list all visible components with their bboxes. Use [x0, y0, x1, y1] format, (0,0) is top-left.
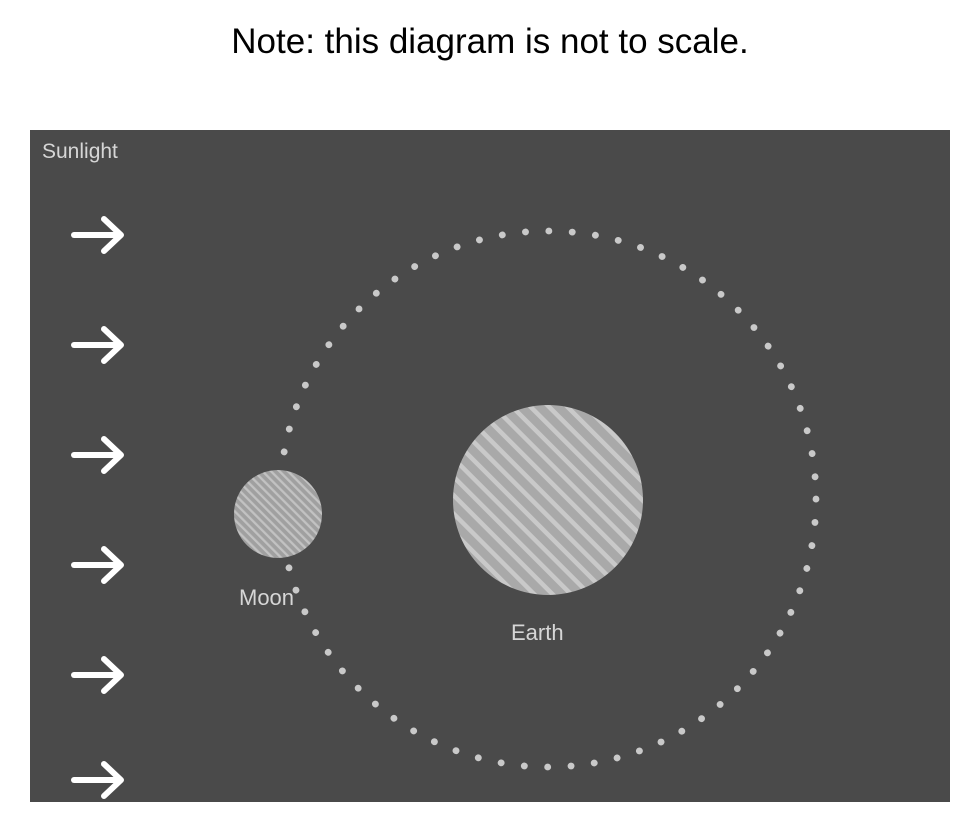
diagram-graphics [30, 130, 950, 802]
earth-label: Earth [511, 620, 564, 646]
diagram-canvas: Note: this diagram is not to scale. [0, 0, 980, 840]
earth-circle [453, 405, 643, 595]
page-title: Note: this diagram is not to scale. [0, 22, 980, 62]
arrow-right-icon [74, 329, 121, 361]
arrow-right-icon [74, 439, 121, 471]
arrow-right-icon [74, 549, 121, 581]
diagram-panel: Sunlight Moon Earth [30, 130, 950, 802]
arrow-right-icon [74, 764, 121, 796]
moon-circle [234, 470, 322, 558]
sunlight-arrow-group [74, 219, 121, 796]
sunlight-label: Sunlight [42, 140, 118, 164]
arrow-right-icon [74, 659, 121, 691]
moon-label: Moon [239, 585, 294, 611]
arrow-right-icon [74, 219, 121, 251]
